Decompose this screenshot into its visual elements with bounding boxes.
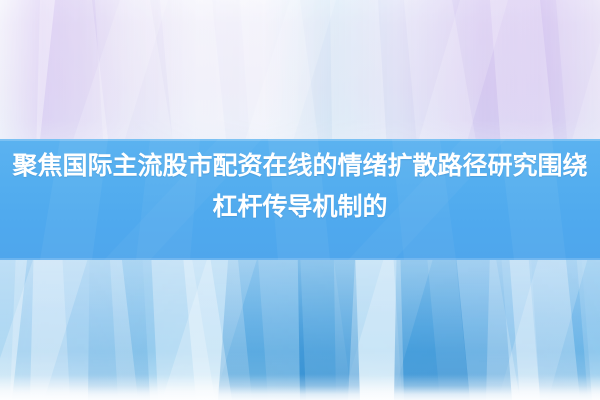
- banner-headline: 聚焦国际主流股市配资在线的情绪扩散路径研究围绕杠杆传导机制的: [0, 146, 600, 228]
- band-top-edge: [0, 139, 600, 141]
- bottom-fade: [0, 374, 600, 400]
- band-bottom-edge: [0, 258, 600, 260]
- promo-banner: 聚焦国际主流股市配资在线的情绪扩散路径研究围绕杠杆传导机制的: [0, 0, 600, 400]
